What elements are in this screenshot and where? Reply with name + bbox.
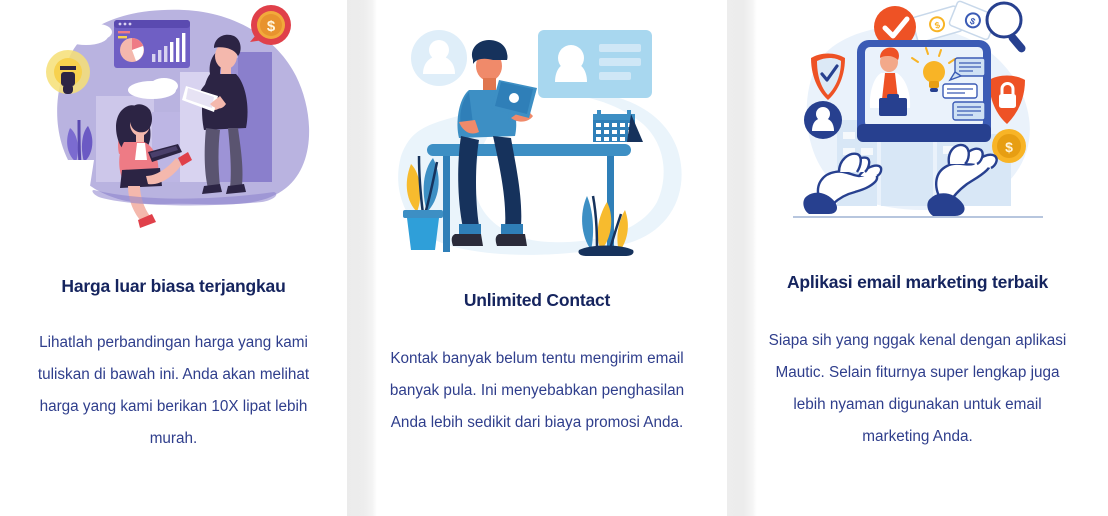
card-text-mautic: Siapa sih yang nggak kenal dengan aplika… [761,325,1075,453]
card-text-contacts: Kontak banyak belum tentu mengirim email… [378,343,696,439]
illustration-wrapper: $ $ [727,0,1108,230]
email-marketing-app-illustration: $ $ [783,0,1053,230]
illustration-wrapper [347,6,727,258]
features-section: $ [0,0,1108,516]
feature-card-contacts: Unlimited Contact Kontak banyak belum te… [347,0,727,516]
card-title-pricing: Harga luar biasa terjangkau [0,276,347,297]
card-text-pricing: Lihatlah perbandingan harga yang kami tu… [26,327,322,455]
card-title-mautic: Aplikasi email marketing terbaik [727,272,1108,293]
feature-card-pricing: $ [0,0,347,516]
svg-text:$: $ [266,18,275,35]
feature-card-mautic: $ $ [727,0,1108,516]
standing-desk-contact-illustration [381,6,693,258]
business-analytics-illustration: $ [24,0,324,232]
illustration-wrapper: $ [0,0,347,232]
svg-text:$: $ [1005,139,1013,155]
card-title-contacts: Unlimited Contact [347,290,727,311]
